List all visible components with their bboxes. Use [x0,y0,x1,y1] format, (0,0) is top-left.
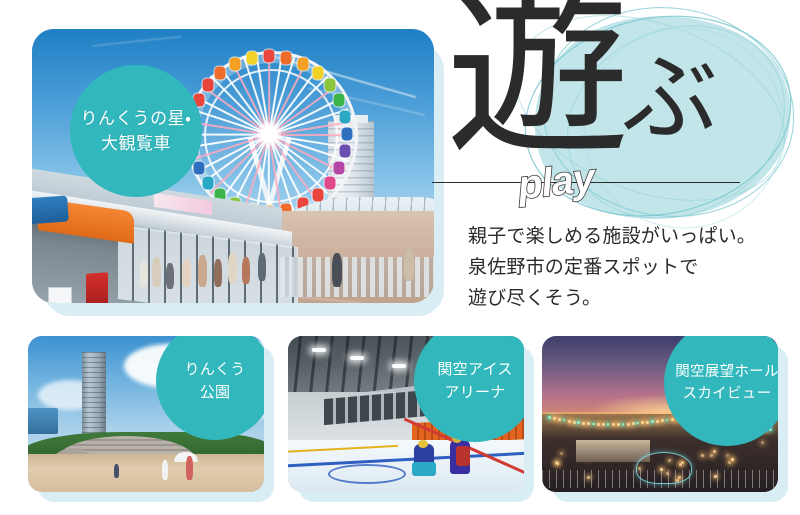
marble-beach-sand [28,454,264,492]
ferris-wheel-gondola [203,176,214,189]
ferris-wheel-gondola [281,51,292,64]
ferris-wheel-hub [260,125,278,143]
ferris-wheel-gondola [340,110,351,123]
ceiling-lamp [392,364,406,368]
person [242,257,250,284]
thumbnail-card-rinku-park: りんくう 公園 [28,336,264,498]
ferris-wheel-gondola [230,57,241,70]
runway-edge-light-green [622,423,625,426]
ferris-wheel-gondola [312,67,323,80]
ceiling-lamp [350,356,364,360]
ferris-wheel-gondola [264,50,275,63]
page-root: りんくうの星・ 大観覧車 遊ぶ play 親子で楽しめる施設がいっぱい。 泉佐野… [0,0,800,515]
person [140,261,148,287]
title-block: 遊ぶ play 親子で楽しめる施設がいっぱい。 泉佐野市の定番スポットで 遊び尽… [440,0,800,330]
rink-faceoff-circle [328,464,406,484]
person [186,456,193,480]
person [152,257,161,287]
runway-edge-light-amber [558,418,561,421]
ferris-wheel-gondola [312,188,323,201]
hero-badge[interactable]: りんくうの星・ 大観覧車 [70,65,202,197]
ferris-wheel-gondola [246,51,257,64]
ferris-wheel-gondola [297,57,308,70]
ferris-wheel-gondola [203,79,214,92]
thumbnail-card-kanku-ice-arena: 関空アイス アリーナ [288,336,524,498]
person [228,253,237,283]
ferris-wheel-gondola [342,128,353,141]
sidewalk-a-board-sign [86,272,108,303]
runway-edge-light-green [651,420,654,423]
thumbnail-badge-label: りんくう 公園 [185,358,246,405]
runway-edge-light-amber [627,423,630,426]
lead-paragraph: 親子で楽しめる施設がいっぱい。 泉佐野市の定番スポットで 遊び尽くそう。 [468,222,756,314]
title-romaji-overlay: play [516,156,596,209]
thumbnail-photo[interactable]: 関空展望ホール スカイビュー [542,336,778,492]
person [166,263,174,289]
blue-pavilion [28,408,58,434]
runway-edge-light-amber [632,422,635,425]
ferris-wheel-gondola [324,176,335,189]
runway-edge-light-amber [656,420,659,423]
person [258,253,266,281]
person [214,259,222,287]
ferris-wheel-gondola [193,161,204,174]
no-smoking-sign [48,287,72,303]
ferris-wheel-gondola [215,67,226,80]
runway-edge-light-amber [573,421,576,424]
thumbnail-photo[interactable]: 関空アイス アリーナ [288,336,524,492]
person [162,460,168,480]
mascot-character-blue-head [418,440,428,448]
runway-edge-light-amber [710,454,713,457]
runway-edge-light-amber [728,461,731,464]
hero-photo[interactable]: りんくうの星・ 大観覧車 [32,29,434,303]
runway-edge-light-amber [701,454,704,457]
thumbnail-card-kanku-sky-view: 関空展望ホール スカイビュー [542,336,778,498]
ferris-wheel-gondola [324,79,335,92]
thumbnail-badge-label: 関空アイス アリーナ [437,358,512,405]
person [404,249,414,281]
runway-edge-light-amber [555,461,558,464]
ceiling-lamp [312,348,326,352]
title-kanji-suffix: ぶ [622,42,716,154]
runway-edge-light-amber [568,420,571,423]
runway-edge-light-amber [553,417,556,420]
ferris-wheel-gondola [334,94,345,107]
person [332,253,342,287]
person [198,255,207,287]
person [114,464,119,478]
thumbnail-badge-label: 関空展望ホール スカイビュー [675,361,778,406]
hero-badge-label: りんくうの星・ 大観覧車 [81,106,192,157]
person [182,259,191,287]
runway-edge-light-green [577,421,580,424]
mascot-character-red-body [456,446,470,466]
illuminated-sculpture [636,452,692,484]
ferris-wheel-gondola [340,145,351,158]
shop-sign-blue [32,195,69,224]
mascot-character-blue-cape [412,462,436,476]
terminal-building [576,440,650,462]
thumbnail-photo[interactable]: りんくう 公園 [28,336,264,492]
runway-edge-light-amber [560,452,563,455]
title-kanji: 遊ぶ [446,0,722,166]
ferris-wheel-gondola [334,161,345,174]
title-kanji-main: 遊 [446,0,628,181]
runway-edge-light-green [548,416,551,419]
